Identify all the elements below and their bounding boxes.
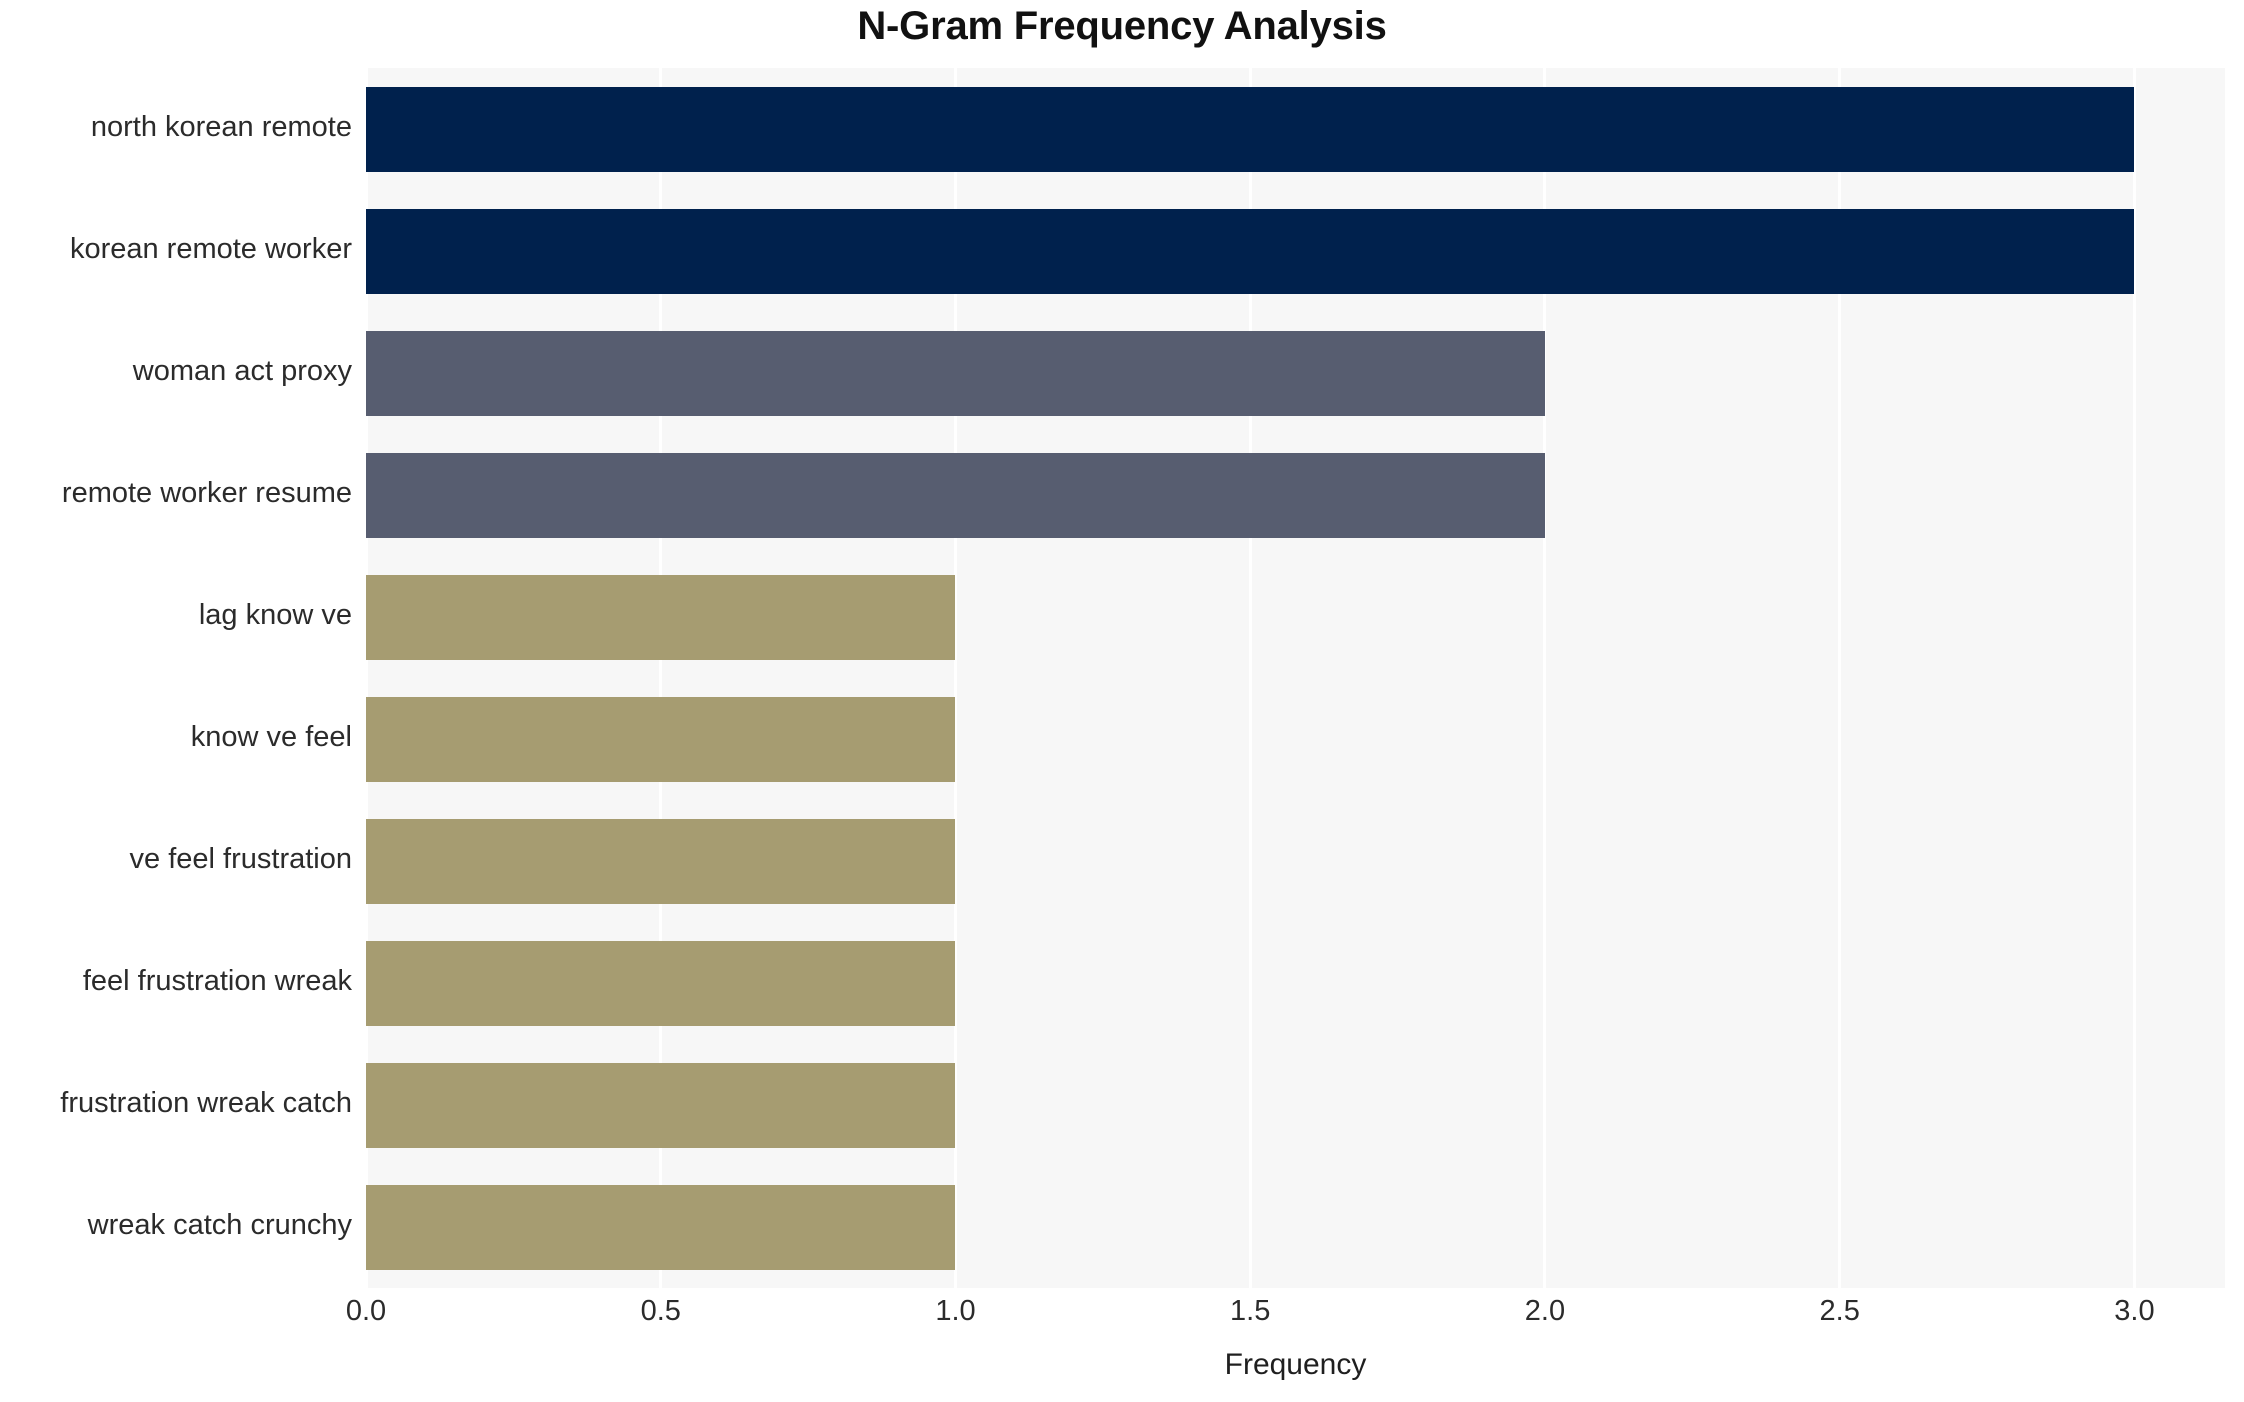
x-axis-tick-label: 0.5 [641,1297,681,1326]
y-axis-tick-label: north korean remote [91,113,352,142]
bar-row [366,434,2225,556]
x-axis-tick-label: 1.0 [935,1297,975,1326]
plot-area [366,68,2225,1288]
y-axis-tick-label: feel frustration wreak [83,967,352,996]
y-axis-tick-label: korean remote worker [70,235,352,264]
bar-row [366,556,2225,678]
bar-row [366,312,2225,434]
x-axis-tick-label: 3.0 [2114,1297,2154,1326]
bar-row [366,68,2225,190]
x-axis-tick-label: 0.0 [346,1297,386,1326]
bar-row [366,800,2225,922]
x-axis-tick-label: 1.5 [1230,1297,1270,1326]
bar-row [366,1044,2225,1166]
x-axis-tick-label: 2.5 [1820,1297,1860,1326]
bar[interactable] [366,1063,955,1148]
x-axis-title: Frequency [366,1348,2225,1382]
y-axis-tick-label: know ve feel [191,723,352,752]
y-axis-tick-label: ve feel frustration [130,845,352,874]
y-axis-tick-label: wreak catch crunchy [88,1211,352,1240]
bar-row [366,922,2225,1044]
bar-row [366,1166,2225,1288]
x-axis-tick-label: 2.0 [1525,1297,1565,1326]
chart-figure: N-Gram Frequency Analysis north korean r… [0,0,2244,1402]
y-axis-tick-label: remote worker resume [62,479,352,508]
chart-title: N-Gram Frequency Analysis [0,4,2244,49]
y-axis-tick-label: frustration wreak catch [60,1089,352,1118]
bar[interactable] [366,1185,955,1270]
bar[interactable] [366,209,2134,294]
bar[interactable] [366,87,2134,172]
bar[interactable] [366,697,955,782]
y-axis-tick-label: lag know ve [199,601,352,630]
bar[interactable] [366,941,955,1026]
bar[interactable] [366,453,1545,538]
bar[interactable] [366,575,955,660]
bar-row [366,190,2225,312]
bar-row [366,678,2225,800]
bar[interactable] [366,331,1545,416]
y-axis-tick-label: woman act proxy [133,357,352,386]
y-axis-tick-labels: north korean remotekorean remote workerw… [0,68,366,1288]
bar[interactable] [366,819,955,904]
